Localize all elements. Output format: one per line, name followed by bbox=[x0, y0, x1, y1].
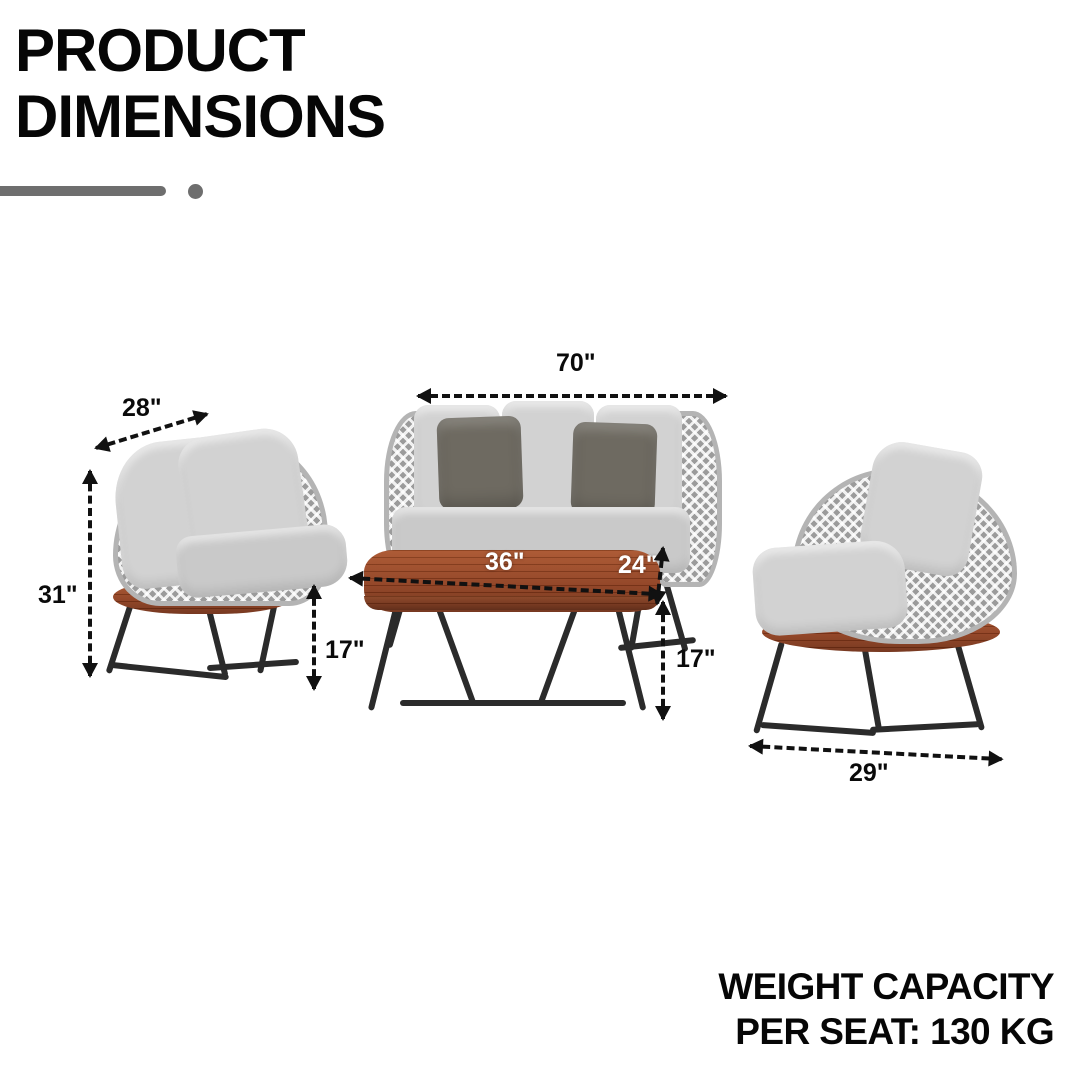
weight-capacity-line-2: PER SEAT: 130 KG bbox=[718, 1009, 1054, 1054]
left-chair-seat-cushion bbox=[175, 523, 350, 600]
title-divider bbox=[0, 182, 260, 200]
dimension-arrow-table-height-left bbox=[306, 586, 322, 689]
dimension-arrow-sofa-width bbox=[418, 388, 726, 404]
divider-bar bbox=[0, 186, 166, 196]
coffee-table-leg bbox=[368, 595, 402, 711]
right-chair-seat-cushion bbox=[751, 539, 909, 637]
right-chair bbox=[738, 440, 1038, 730]
title-line-2: DIMENSIONS bbox=[15, 84, 715, 150]
sofa-throw-pillow bbox=[570, 422, 657, 517]
divider-dot-icon bbox=[188, 184, 203, 199]
dimension-label-sofa-width: 70" bbox=[556, 351, 596, 376]
dimension-label-chair-height: 31" bbox=[38, 583, 78, 608]
dimension-arrow-table-height-right bbox=[655, 602, 671, 719]
right-chair-leg bbox=[753, 641, 785, 734]
dimension-label-chair-width: 29" bbox=[849, 761, 889, 786]
dimension-label-table-height-right: 17" bbox=[676, 647, 716, 672]
coffee-table-stretcher bbox=[400, 700, 626, 706]
coffee-table-leg bbox=[433, 600, 476, 705]
left-chair bbox=[95, 410, 365, 660]
dimension-label-table-length: 36" bbox=[485, 550, 525, 575]
dimension-label-chair-depth: 28" bbox=[122, 396, 162, 421]
weight-capacity-line-1: WEIGHT CAPACITY bbox=[718, 964, 1054, 1009]
right-chair-leg bbox=[953, 637, 985, 731]
weight-capacity-block: WEIGHT CAPACITY PER SEAT: 130 KG bbox=[718, 964, 1054, 1054]
right-chair-leg bbox=[870, 721, 980, 733]
dimension-label-table-height-left: 17" bbox=[325, 638, 365, 663]
dimension-arrow-chair-height bbox=[82, 471, 98, 676]
page-title: PRODUCT DIMENSIONS bbox=[15, 18, 715, 150]
coffee-table-leg bbox=[537, 600, 580, 705]
product-dimensions-infographic: PRODUCT DIMENSIONS bbox=[0, 0, 1080, 1080]
title-line-1: PRODUCT bbox=[15, 18, 715, 84]
sofa-throw-pillow bbox=[436, 416, 523, 511]
right-chair-leg bbox=[760, 722, 876, 736]
